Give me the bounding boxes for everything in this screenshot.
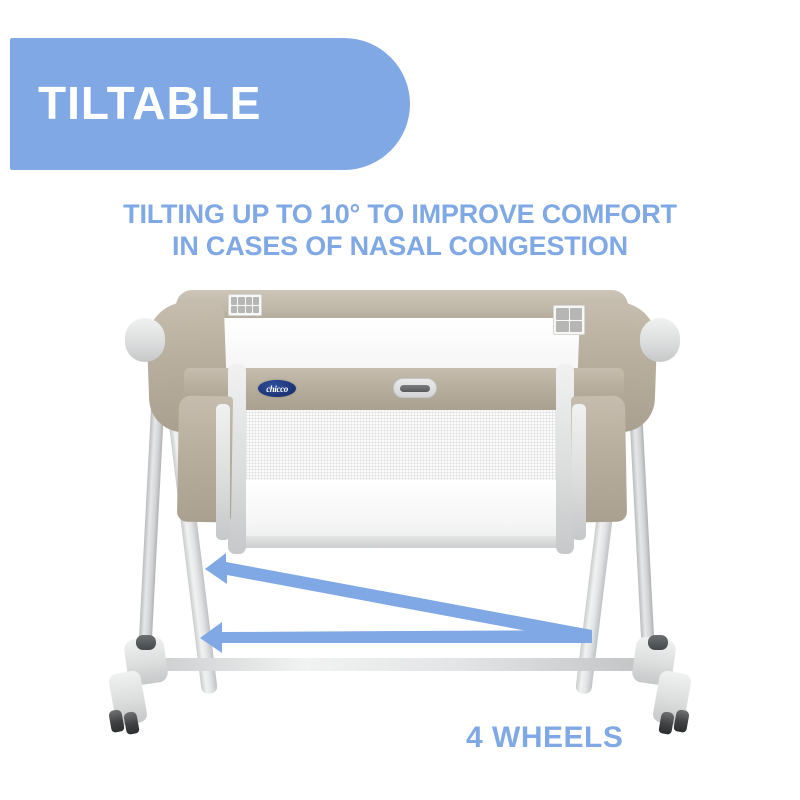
subtitle-line-1: TILTING UP TO 10° TO IMPROVE COMFORT [0, 198, 800, 230]
lower-front-panel [236, 480, 564, 540]
care-symbol-icon [253, 306, 259, 314]
handle-slot-icon [400, 385, 430, 392]
care-symbol-icon [570, 321, 583, 333]
pivot-knob-left [125, 318, 165, 362]
page-title: TILTABLE [38, 80, 261, 126]
side-clamp-left [216, 404, 230, 540]
care-symbol-icon [238, 297, 244, 305]
wheels-caption: 4 WHEELS [466, 721, 623, 755]
care-symbol-icon [253, 297, 259, 305]
brand-logo-text: chicco [266, 384, 288, 394]
care-symbol-icon [246, 297, 252, 305]
care-symbol-icon [246, 306, 252, 314]
care-symbol-icon [570, 308, 583, 320]
product-image: chicco [0, 280, 800, 760]
crib-base-plate [232, 536, 568, 548]
care-label-right [553, 305, 585, 335]
base-crossbar [140, 658, 660, 671]
header-banner: TILTABLE [10, 38, 410, 170]
pivot-knob-right [640, 318, 680, 362]
care-label-left [228, 294, 262, 316]
wheel-front-right [658, 711, 675, 735]
care-symbol-icon [231, 306, 237, 314]
care-symbol-icon [238, 306, 244, 314]
hub-left [136, 635, 156, 650]
hub-right [648, 635, 668, 650]
care-symbol-icon [231, 297, 237, 305]
brand-logo: chicco [258, 380, 296, 397]
care-symbol-icon [556, 308, 569, 320]
side-clamp-right [572, 404, 586, 540]
care-symbol-icon [556, 321, 569, 333]
front-mesh-panel [240, 410, 560, 482]
subtitle-text: TILTING UP TO 10° TO IMPROVE COMFORT IN … [0, 198, 800, 262]
center-grip-handle [393, 378, 437, 398]
wheel-rear-right [673, 709, 690, 733]
subtitle-line-2: IN CASES OF NASAL CONGESTION [0, 230, 800, 262]
infographic-page: TILTABLE TILTING UP TO 10° TO IMPROVE CO… [0, 0, 800, 800]
